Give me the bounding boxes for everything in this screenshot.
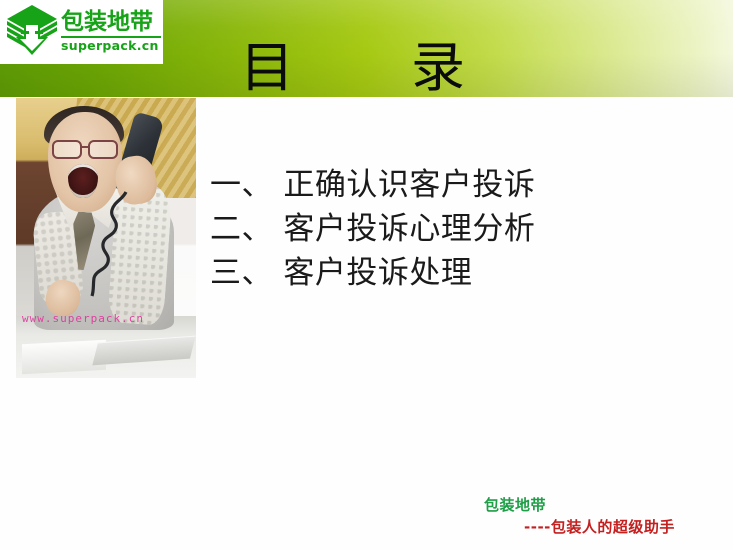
brand-name-cn: 包装地带 — [61, 11, 161, 34]
page-title: 目 录 — [240, 40, 467, 97]
photo-person-glasses — [52, 140, 118, 156]
angry-man-on-phone-photo: www.superpack.cn — [16, 98, 196, 378]
agenda-list: 一、 正确认识客户投诉 二、 客户投诉心理分析 三、 客户投诉处理 — [210, 163, 630, 295]
slide-canvas: 包装地带 superpack.cn 目 录 www.superpack.cn — [0, 0, 733, 550]
footer-brand-name: 包装地带 — [484, 494, 546, 515]
brand-logo-text: 包装地带 superpack.cn — [61, 11, 161, 53]
agenda-item-1[interactable]: 一、 正确认识客户投诉 — [210, 163, 630, 207]
photo-watermark: www.superpack.cn — [22, 312, 144, 325]
footer-slogan: ----包装人的超级助手 — [524, 516, 675, 537]
photo-telephone-cord — [64, 190, 134, 298]
brand-url: superpack.cn — [61, 40, 161, 53]
brand-logo-panel[interactable]: 包装地带 superpack.cn — [0, 0, 163, 64]
package-box-logo-icon — [4, 3, 60, 61]
footer-branding: 包装地带 ----包装人的超级助手 — [452, 494, 733, 544]
agenda-item-2[interactable]: 二、 客户投诉心理分析 — [210, 207, 630, 251]
agenda-item-3[interactable]: 三、 客户投诉处理 — [210, 251, 630, 295]
